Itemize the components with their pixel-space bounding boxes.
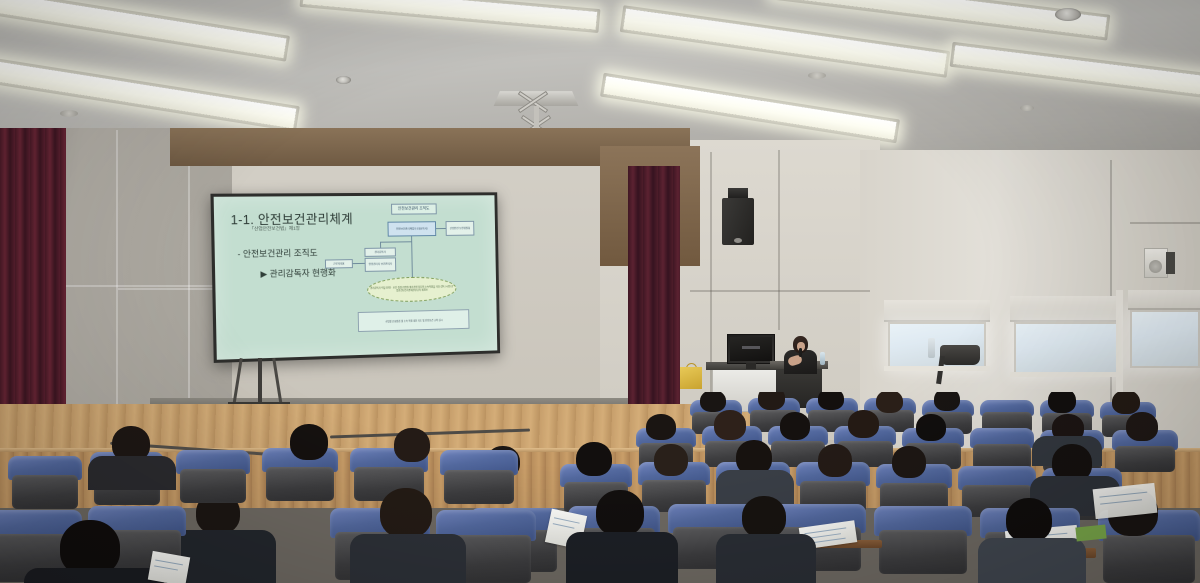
window-roller-shade[interactable] <box>884 300 990 322</box>
attendee-head <box>646 414 676 440</box>
attendee-head <box>394 428 430 462</box>
smoke-detector-icon <box>336 76 351 84</box>
window-roller-shade[interactable] <box>1128 290 1200 310</box>
window-sill <box>884 366 990 371</box>
attendee-head <box>576 442 612 476</box>
water-bottle <box>928 338 935 358</box>
panel-seam <box>778 150 780 330</box>
stage-curtain-right <box>628 166 680 404</box>
diagram-box: 안전관리자 보건관리자 <box>365 257 397 271</box>
panel-seam <box>60 285 232 287</box>
presentation-slide: 1-1. 안전보건관리체계 「산업안전보건법」제1장 - 안전보건관리 조직도 … <box>214 195 498 360</box>
diagram-connector <box>411 236 413 277</box>
monitor-stand <box>746 363 756 369</box>
attendee-head <box>700 392 726 412</box>
diagram-box: 안전보건관리책임자 (대표이사) <box>387 221 436 236</box>
attendee-head <box>1006 498 1052 542</box>
water-bottle <box>820 352 825 365</box>
attendee-head <box>742 496 786 538</box>
diagram-title: 안전보건관리 조직도 <box>391 203 436 214</box>
attendee-head <box>876 392 903 413</box>
intercom-mount <box>1166 252 1175 274</box>
diagram-connector <box>380 241 411 242</box>
attendee-head <box>758 392 785 410</box>
attendee-head <box>934 392 960 411</box>
smoke-detector-icon <box>1055 8 1081 21</box>
attendee-head <box>916 414 946 441</box>
window-mullion <box>1116 290 1123 400</box>
window <box>1130 310 1200 368</box>
intercom-grill-icon <box>1149 260 1162 273</box>
window-sill <box>1010 372 1120 377</box>
sprinkler-head-icon <box>1020 105 1034 111</box>
attendee-head <box>290 424 328 460</box>
attendee-head <box>848 410 879 438</box>
panel-seam <box>188 132 190 422</box>
diagram-box: 관리감독자 <box>364 247 396 256</box>
handout-paper <box>148 551 190 583</box>
microphone <box>799 348 802 357</box>
speaker-cone-icon <box>734 238 742 243</box>
panel-seam <box>116 130 118 430</box>
audience-seating-area <box>0 392 1200 583</box>
attendee-head <box>780 412 810 440</box>
window <box>1014 322 1118 374</box>
diagram-note-ellipse: 관리감독자 역할 (안전 · 보건 점검) (법령) 생산관련 업무와 소속직원… <box>367 276 457 303</box>
diagram-box: 산업안전 보건위원회 <box>446 221 475 236</box>
attendee-shoulders <box>350 534 466 583</box>
diagram-box: 근로자대표 <box>325 259 353 269</box>
lecture-hall-photo: 1-1. 안전보건관리체계 「산업안전보건법」제1장 - 안전보건관리 조직도 … <box>0 0 1200 583</box>
attendee-head <box>596 490 644 536</box>
gold-shopping-bag <box>680 367 702 389</box>
attendee-head <box>1112 392 1140 414</box>
attendee-shoulders <box>566 532 678 583</box>
attendee-head <box>1126 412 1158 441</box>
sprinkler-head-icon <box>60 110 78 117</box>
attendee-head <box>380 488 432 538</box>
diagram-connector <box>353 263 365 264</box>
attendee-head <box>654 444 688 476</box>
window-roller-shade[interactable] <box>1010 296 1120 322</box>
attendee-head <box>892 446 926 478</box>
attendee-shoulders <box>24 568 164 583</box>
monitor-screen <box>730 337 772 361</box>
attendee-head <box>818 444 852 477</box>
diagram-footer-note: 사업장 순회점검 및 소속 직원 대한 지도 및 안전보건 교육 실시 <box>358 309 470 332</box>
diagram-connector <box>436 228 446 229</box>
sprinkler-head-icon <box>808 72 826 79</box>
panel-seam <box>690 290 870 292</box>
attendee-head <box>818 392 844 410</box>
attendee-shoulders <box>716 534 816 583</box>
bag-on-windowsill <box>940 345 980 365</box>
slide-bullet-1: - 안전보건관리 조직도 <box>237 247 317 260</box>
panel-seam <box>1130 222 1200 224</box>
attendee-head <box>714 410 746 440</box>
attendee-head <box>1048 392 1076 413</box>
attendee-shoulders <box>978 538 1086 583</box>
monitor-logo <box>742 346 760 349</box>
projection-screen: 1-1. 안전보건관리체계 「산업안전보건법」제1장 - 안전보건관리 조직도 … <box>210 192 500 363</box>
attendee-shoulders <box>88 456 176 490</box>
slide-subtitle: 「산업안전보건법」제1장 <box>249 226 300 233</box>
